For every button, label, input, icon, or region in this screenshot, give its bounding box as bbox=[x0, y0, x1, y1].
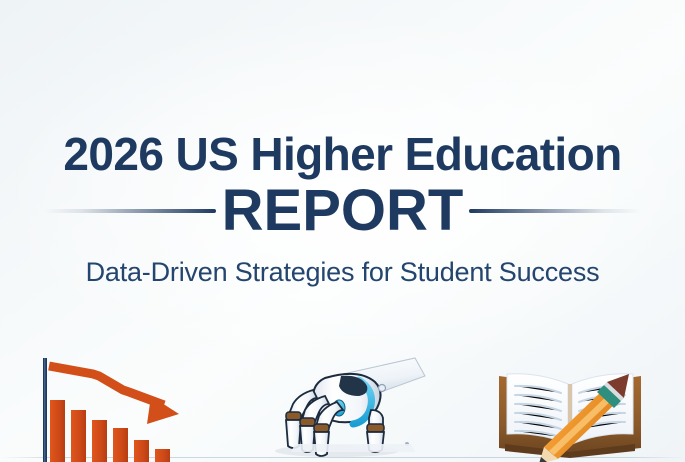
report-heading-row: REPORT bbox=[0, 182, 685, 240]
icon-row bbox=[0, 352, 685, 462]
declining-bar-chart-graphic bbox=[27, 352, 202, 462]
open-book-pencil-graphic bbox=[483, 352, 658, 462]
robot-bolt bbox=[378, 385, 385, 392]
page-subtitle: Data-Driven Strategies for Student Succe… bbox=[0, 256, 685, 288]
robot-base-plate bbox=[291, 444, 415, 452]
rule-right-decoration bbox=[469, 209, 641, 213]
report-cover-slide: 2026 US Higher Education REPORT Data-Dri… bbox=[0, 0, 685, 462]
robotic-hand-graphic bbox=[255, 352, 430, 462]
declining-bar-chart-icon bbox=[27, 352, 202, 462]
report-word: REPORT bbox=[222, 182, 464, 240]
robotic-hand-icon bbox=[255, 352, 430, 462]
title-block: 2026 US Higher Education REPORT Data-Dri… bbox=[0, 128, 685, 288]
chart-trend-arrow bbox=[49, 366, 179, 424]
chart-y-axis-highlight bbox=[44, 358, 45, 462]
rule-left-decoration bbox=[44, 209, 216, 213]
open-book-pencil-icon bbox=[483, 352, 658, 462]
page-title: 2026 US Higher Education bbox=[0, 128, 685, 180]
